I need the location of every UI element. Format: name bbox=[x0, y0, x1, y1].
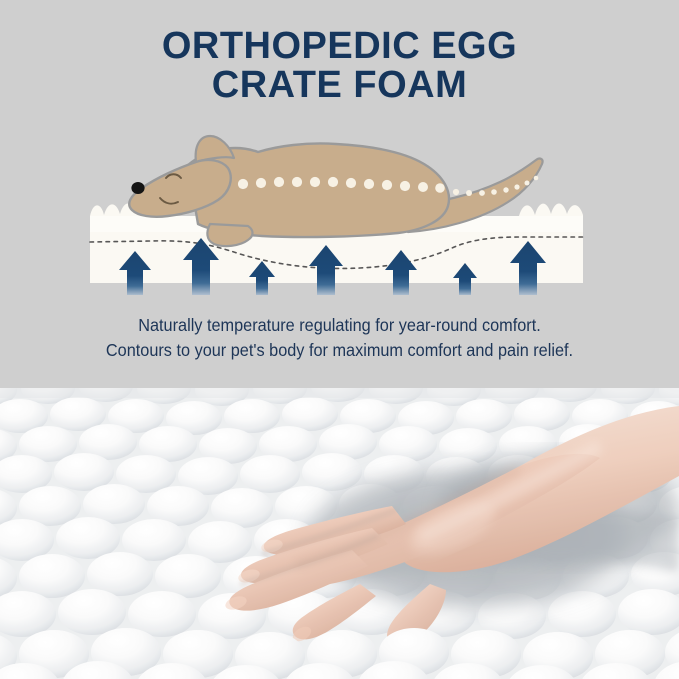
foam-closeup-photo bbox=[0, 388, 679, 679]
benefit-line-2: Contours to your pet's body for maximum … bbox=[24, 338, 655, 363]
dog-nose-icon bbox=[131, 182, 144, 194]
product-infographic: ORTHOPEDIC EGG CRATE FOAM bbox=[0, 0, 679, 679]
page-title: ORTHOPEDIC EGG CRATE FOAM bbox=[0, 27, 679, 105]
title-line-1: ORTHOPEDIC EGG bbox=[0, 27, 679, 66]
benefit-line-1: Naturally temperature regulating for yea… bbox=[24, 313, 655, 338]
dog-on-foam-illustration bbox=[0, 120, 679, 295]
benefit-text-block: Naturally temperature regulating for yea… bbox=[0, 313, 679, 363]
top-gray-panel: ORTHOPEDIC EGG CRATE FOAM bbox=[0, 0, 679, 388]
title-line-2: CRATE FOAM bbox=[0, 66, 679, 105]
